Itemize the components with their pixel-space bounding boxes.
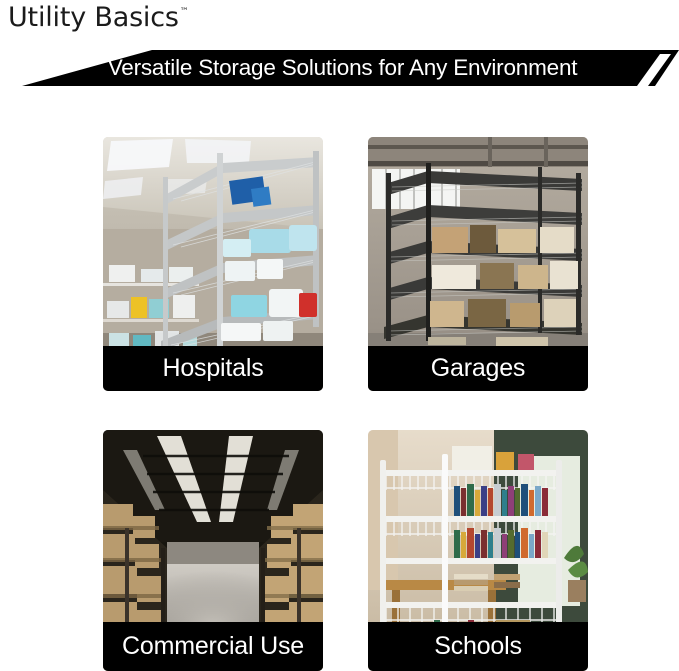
card-garages[interactable]: Garages <box>368 137 588 391</box>
card-label-text: Hospitals <box>162 354 263 383</box>
card-label-text: Schools <box>434 632 522 661</box>
card-label-schools: Schools <box>368 622 588 671</box>
brand-logo: Utility Basics™ <box>8 2 189 33</box>
trademark-symbol: ™ <box>180 7 189 17</box>
card-label-hospitals: Hospitals <box>103 346 323 391</box>
card-hospitals[interactable]: Hospitals <box>103 137 323 391</box>
card-label-text: Commercial Use <box>122 632 304 661</box>
headline-text: Versatile Storage Solutions for Any Envi… <box>0 50 679 86</box>
card-label-text: Garages <box>431 354 526 383</box>
card-label-garages: Garages <box>368 346 588 391</box>
card-schools[interactable]: Schools <box>368 430 588 671</box>
card-commercial[interactable]: Commercial Use <box>103 430 323 671</box>
brand-name: Utility Basics <box>8 2 179 33</box>
card-label-commercial: Commercial Use <box>103 622 323 671</box>
